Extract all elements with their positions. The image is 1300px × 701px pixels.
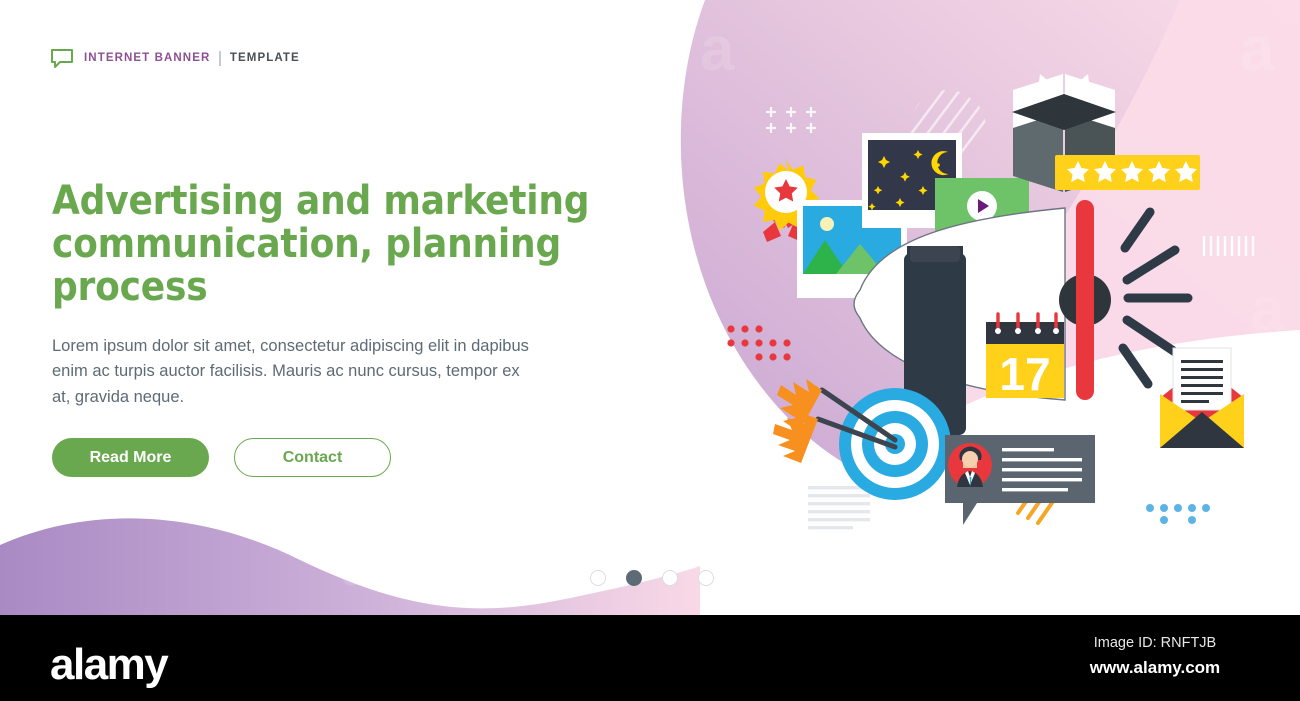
carousel-dot-2[interactable] bbox=[626, 570, 642, 586]
alamy-url-label: www.alamy.com bbox=[1040, 658, 1270, 678]
svg-text:a: a bbox=[700, 15, 735, 84]
page-title-line-1: Advertising and marketing bbox=[52, 178, 589, 224]
banner-screenshot: a a a a a bbox=[0, 0, 1300, 701]
page-title: Advertising and marketing communication,… bbox=[52, 180, 672, 310]
envelope-with-letter-icon bbox=[1160, 348, 1244, 448]
page-title-line-2: communication, planning process bbox=[52, 223, 672, 309]
brand-subtitle: TEMPLATE bbox=[230, 52, 300, 64]
svg-text:17: 17 bbox=[999, 348, 1050, 400]
carousel-dots bbox=[590, 570, 714, 586]
brand-name: INTERNET BANNER bbox=[84, 52, 210, 64]
carousel-dot-1[interactable] bbox=[590, 570, 606, 586]
speech-bubble-icon bbox=[50, 48, 74, 68]
svg-text:a: a bbox=[1240, 15, 1275, 84]
carousel-dot-3[interactable] bbox=[662, 570, 678, 586]
alamy-logo: alamy bbox=[50, 640, 167, 690]
svg-text:a: a bbox=[1250, 275, 1285, 344]
svg-text:a: a bbox=[340, 530, 375, 599]
watermark-bar: alamy Image ID: RNFTJB www.alamy.com bbox=[0, 615, 1300, 701]
hero-section: Advertising and marketing communication,… bbox=[52, 180, 672, 477]
brand-logo[interactable]: INTERNET BANNER TEMPLATE bbox=[50, 48, 300, 68]
star-rating-bar-icon bbox=[1055, 155, 1200, 190]
calendar-icon: 17 bbox=[986, 314, 1064, 400]
carousel-dot-4[interactable] bbox=[698, 570, 714, 586]
contact-button[interactable]: Contact bbox=[234, 438, 391, 477]
read-more-button[interactable]: Read More bbox=[52, 438, 209, 477]
image-id-label: Image ID: RNFTJB bbox=[1040, 635, 1270, 651]
hero-button-row: Read More Contact bbox=[52, 438, 672, 477]
hero-paragraph: Lorem ipsum dolor sit amet, consectetur … bbox=[52, 334, 542, 411]
brand-divider bbox=[219, 51, 221, 66]
